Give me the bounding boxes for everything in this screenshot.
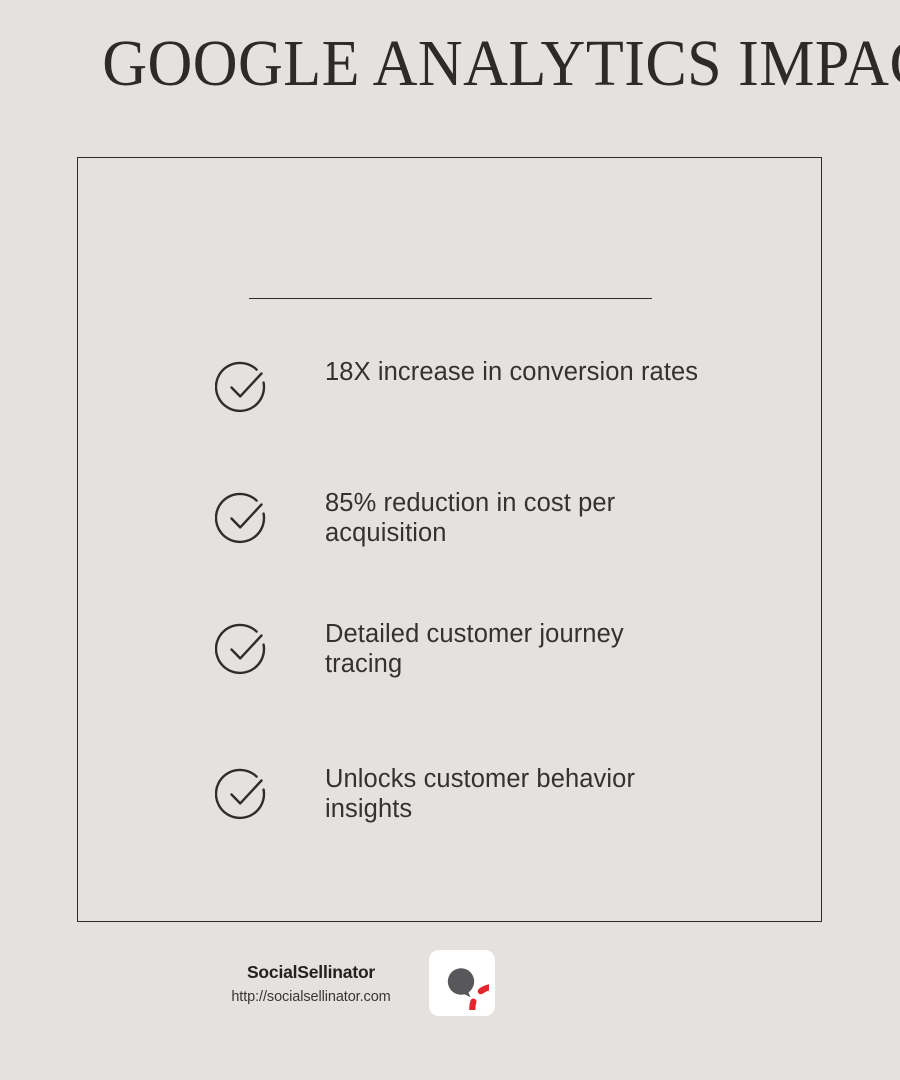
list-item: 18X increase in conversion rates xyxy=(215,349,715,416)
list-item: Unlocks customer behavior insights xyxy=(215,756,715,824)
page-title: GOOGLE ANALYTICS IMPACT xyxy=(102,28,798,100)
check-circle-icon xyxy=(215,489,273,547)
list-item-label: 85% reduction in cost per acquisition xyxy=(325,480,705,548)
brand-name: SocialSellinator xyxy=(205,961,417,988)
check-circle-icon xyxy=(215,358,273,416)
brand-text: SocialSellinator http://socialsellinator… xyxy=(205,961,417,1006)
brand-url[interactable]: http://socialsellinator.com xyxy=(205,988,417,1006)
list-item-label: 18X increase in conversion rates xyxy=(325,349,705,387)
check-circle-icon xyxy=(215,765,273,823)
socialsellinator-logo xyxy=(429,950,495,1016)
check-circle-icon xyxy=(215,620,273,678)
footer: SocialSellinator http://socialsellinator… xyxy=(0,950,900,1040)
list-item-label: Unlocks customer behavior insights xyxy=(325,756,705,824)
list-item: Detailed customer journey tracing xyxy=(215,611,715,679)
list-item: 85% reduction in cost per acquisition xyxy=(215,480,715,548)
list-item-label: Detailed customer journey tracing xyxy=(325,611,705,679)
divider-rule xyxy=(249,298,652,299)
brand-block: SocialSellinator http://socialsellinator… xyxy=(205,950,495,1016)
